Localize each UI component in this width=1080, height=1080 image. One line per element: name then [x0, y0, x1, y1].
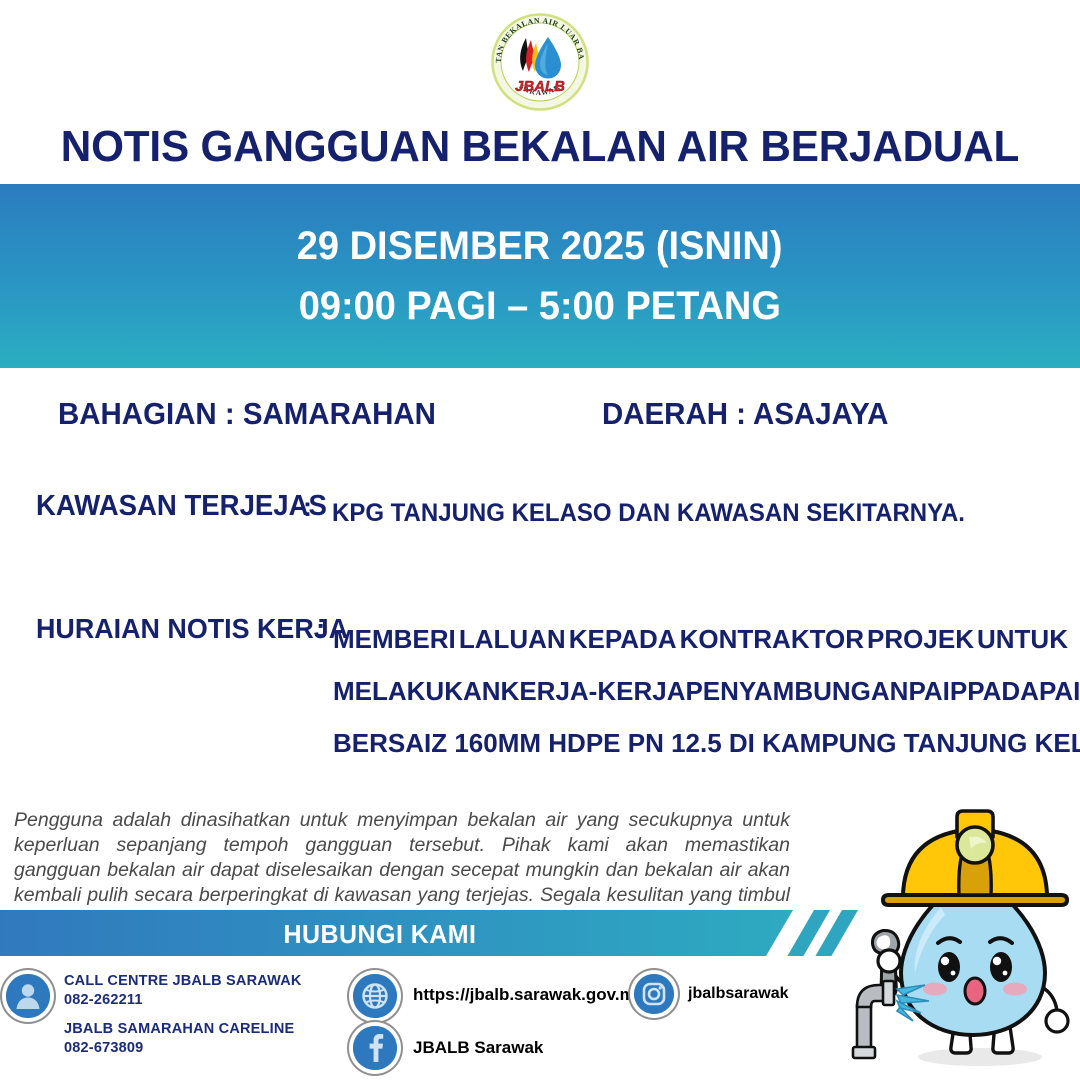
water-droplet-worker-mascot	[845, 795, 1080, 1080]
bahagian-field: BAHAGIAN : SAMARAHAN	[58, 396, 436, 432]
daerah-field: DAERAH : ASAJAYA	[602, 396, 888, 432]
word: LALUAN	[459, 613, 566, 665]
work-description-colon: :	[316, 613, 325, 645]
word: MELAKUKAN	[333, 665, 501, 717]
instagram-handle[interactable]: jbalbsarawak	[688, 985, 789, 1003]
banner-time: 09:00 PAGI – 5:00 PETANG	[299, 276, 781, 336]
work-description-line-2: MELAKUKAN KERJA-KERJA PENYAMBUNGAN PAIP …	[333, 665, 1068, 717]
website-url[interactable]: https://jbalb.sarawak.gov.my/	[413, 985, 649, 1005]
facebook-icon-wrap[interactable]	[353, 1026, 397, 1070]
work-description-line-1: MEMBERI LALUAN KEPADA KONTRAKTOR PROJEK …	[333, 613, 1068, 665]
page-title: NOTIS GANGGUAN BEKALAN AIR BERJADUAL	[22, 122, 1059, 172]
instagram-icon-wrap[interactable]	[634, 974, 674, 1014]
call-centre-number[interactable]: 082-262211	[64, 991, 302, 1010]
instagram-icon[interactable]	[634, 974, 674, 1014]
word: PAIP	[908, 665, 967, 717]
logo-acronym: JBALB	[515, 78, 565, 95]
careline-block: JBALB SAMARAHAN CARELINE 082-673809	[64, 1020, 294, 1058]
globe-icon[interactable]	[353, 974, 397, 1018]
facebook-handle[interactable]: JBALB Sarawak	[413, 1038, 543, 1058]
work-description-line-3: BERSAIZ 160MM HDPE PN 12.5 DI KAMPUNG TA…	[333, 717, 1068, 769]
date-time-banner: 29 DISEMBER 2025 (ISNIN) 09:00 PAGI – 5:…	[0, 184, 1080, 368]
details-section: BAHAGIAN : SAMARAHAN DAERAH : ASAJAYA KA…	[0, 368, 1080, 798]
word: UNTUK	[977, 613, 1068, 665]
person-icon	[6, 974, 50, 1018]
work-description-body: MEMBERI LALUAN KEPADA KONTRAKTOR PROJEK …	[333, 613, 1068, 769]
affected-area-label: KAWASAN TERJEJAS	[36, 490, 327, 523]
affected-area-colon: :	[303, 492, 312, 523]
banner-date: 29 DISEMBER 2025 (ISNIN)	[297, 216, 783, 276]
word: PENYAMBUNGAN	[685, 665, 908, 717]
facebook-icon[interactable]	[353, 1026, 397, 1070]
word: KERJA-KERJA	[501, 665, 686, 717]
word: PROJEK	[867, 613, 974, 665]
call-centre-name: CALL CENTRE JBALB SARAWAK	[64, 972, 302, 991]
jbalb-logo: JABATAN BEKALAN AIR LUAR BANDAR SARAWAK …	[490, 12, 590, 112]
careline-number[interactable]: 082-673809	[64, 1039, 294, 1058]
contact-heading-label: HUBUNGI KAMI	[15, 919, 745, 950]
water-supply-disruption-notice-poster: JABATAN BEKALAN AIR LUAR BANDAR SARAWAK …	[0, 0, 1080, 1080]
work-description-label: HURAIAN NOTIS KERJA	[36, 613, 348, 645]
call-centre-block: CALL CENTRE JBALB SARAWAK 082-262211	[64, 972, 302, 1010]
leaking-pipe-icon	[853, 981, 894, 1058]
word: KONTRAKTOR	[680, 613, 864, 665]
word: MEMBERI	[333, 613, 456, 665]
website-icon-wrap[interactable]	[353, 974, 397, 1018]
careline-name: JBALB SAMARAHAN CARELINE	[64, 1020, 294, 1039]
affected-area-value: KPG TANJUNG KELASO DAN KAWASAN SEKITARNY…	[332, 499, 965, 528]
call-centre-icon-wrap	[6, 974, 50, 1018]
word: PAIP	[1039, 665, 1080, 717]
word: PADA	[967, 665, 1039, 717]
word: KEPADA	[569, 613, 677, 665]
jbalb-logo-container: JABATAN BEKALAN AIR LUAR BANDAR SARAWAK …	[0, 8, 1080, 116]
